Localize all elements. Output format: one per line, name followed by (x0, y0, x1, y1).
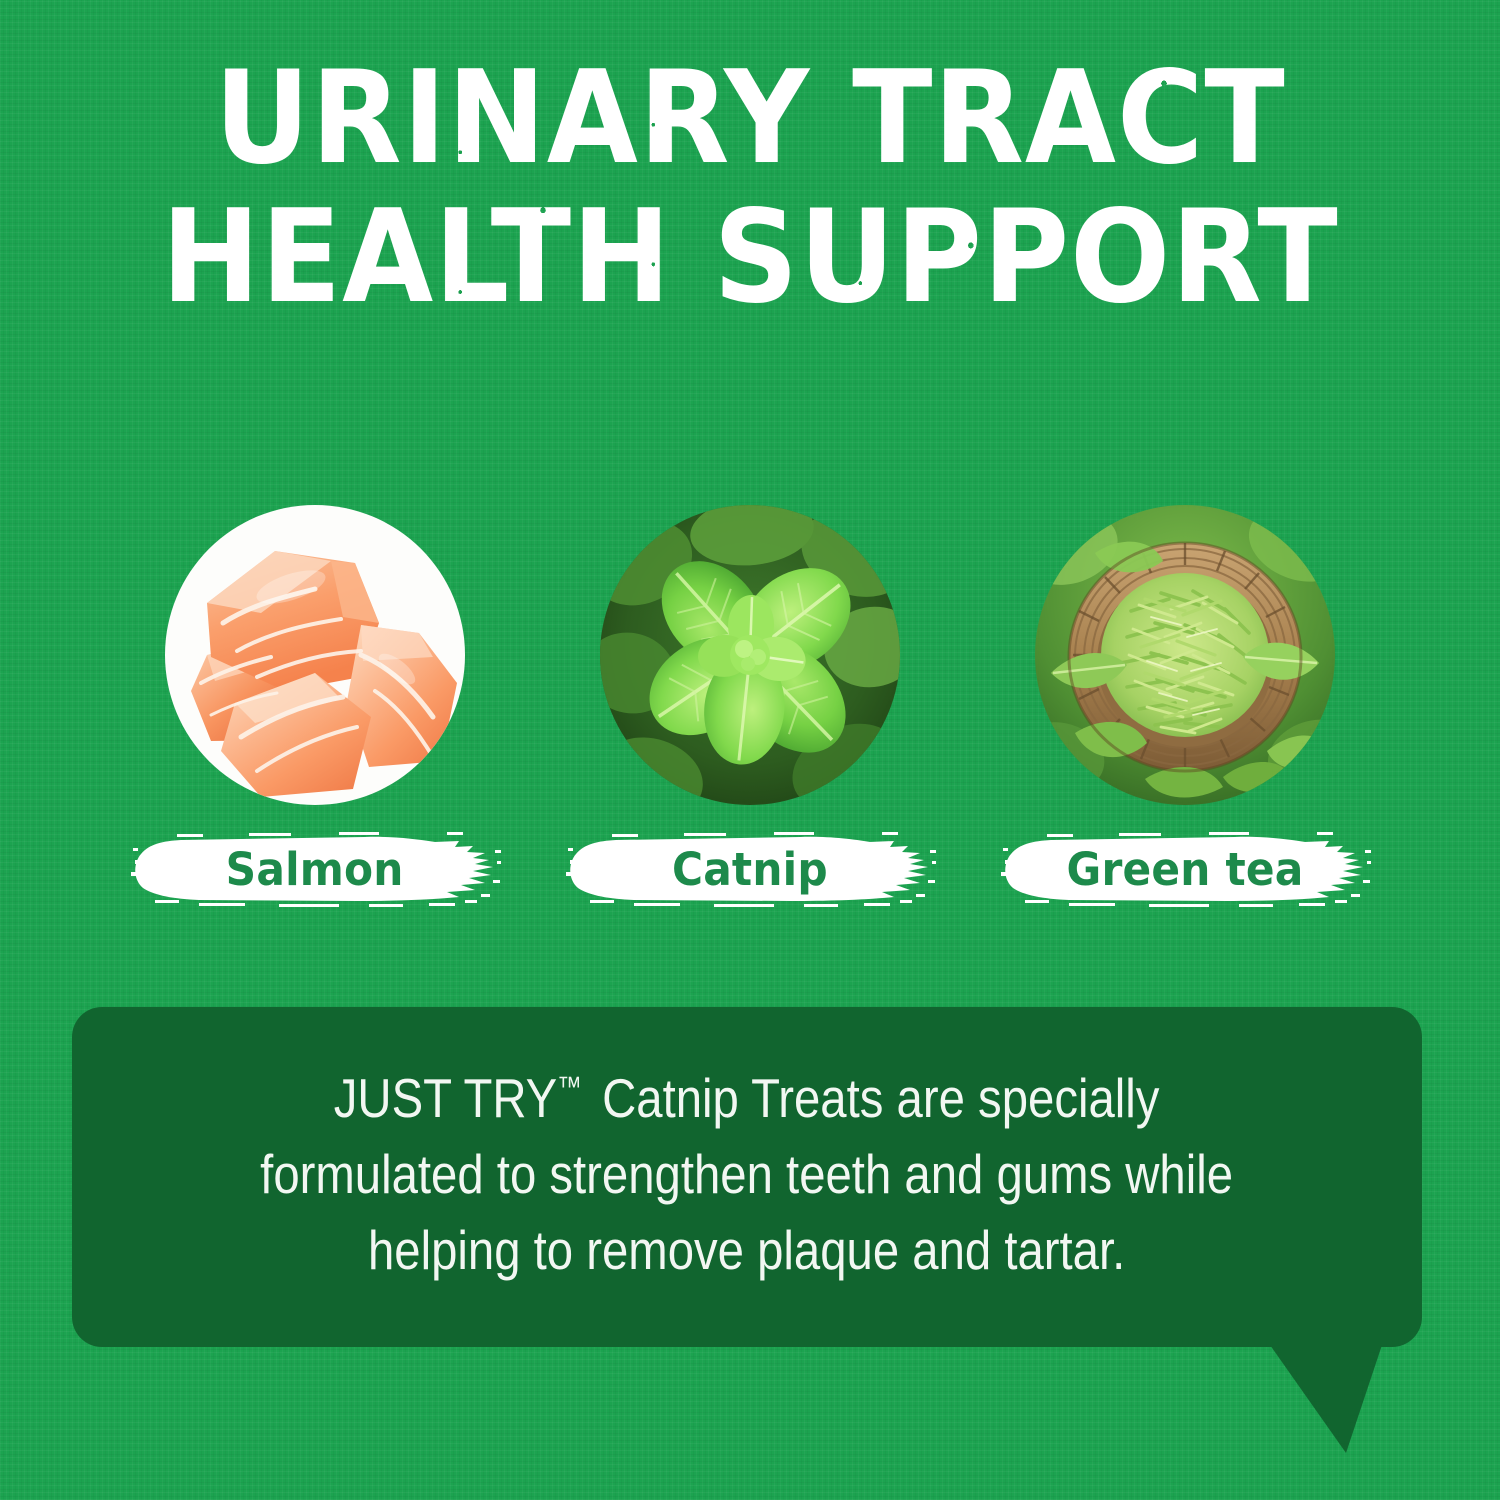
product-marketing-poster: URINARY TRACT HEALTH SUPPORT (0, 0, 1500, 1500)
ingredient-item-catnip: Catnip (600, 505, 900, 908)
description-text: JUST TRY™Catnip Treats are specially for… (261, 1061, 1234, 1289)
description-line-3: helping to remove plaque and tartar. (261, 1213, 1234, 1289)
ingredient-item-salmon: Salmon (165, 505, 465, 908)
description-line-1-rest: Catnip Treats are specially (602, 1067, 1159, 1129)
ingredient-badge-salmon: Salmon (129, 830, 501, 908)
ingredient-item-green-tea: Green tea (1035, 505, 1335, 908)
ingredient-label-green-tea: Green tea (1067, 843, 1304, 896)
ingredient-label-catnip: Catnip (672, 843, 828, 896)
ingredient-badge-green-tea: Green tea (999, 830, 1371, 908)
trademark-symbol: ™ (558, 1072, 583, 1104)
ingredient-row: Salmon (0, 505, 1500, 908)
speech-bubble-tail (1270, 1345, 1420, 1455)
description-speech-bubble: JUST TRY™Catnip Treats are specially for… (72, 1007, 1422, 1347)
headline-block: URINARY TRACT HEALTH SUPPORT (0, 56, 1500, 321)
headline-line-2: HEALTH SUPPORT (60, 195, 1440, 320)
salmon-cubes-photo (165, 505, 465, 805)
ingredient-label-salmon: Salmon (226, 843, 404, 896)
description-line-2: formulated to strengthen teeth and gums … (261, 1137, 1234, 1213)
mint-catnip-leaves-photo (600, 505, 900, 805)
speech-bubble-body: JUST TRY™Catnip Treats are specially for… (72, 1007, 1422, 1347)
green-tea-leaves-basket-photo (1035, 505, 1335, 805)
brand-name: JUST TRY (334, 1067, 557, 1129)
description-line-1: JUST TRY™Catnip Treats are specially (261, 1061, 1234, 1137)
headline-line-1: URINARY TRACT (60, 56, 1440, 181)
ingredient-badge-catnip: Catnip (564, 830, 936, 908)
